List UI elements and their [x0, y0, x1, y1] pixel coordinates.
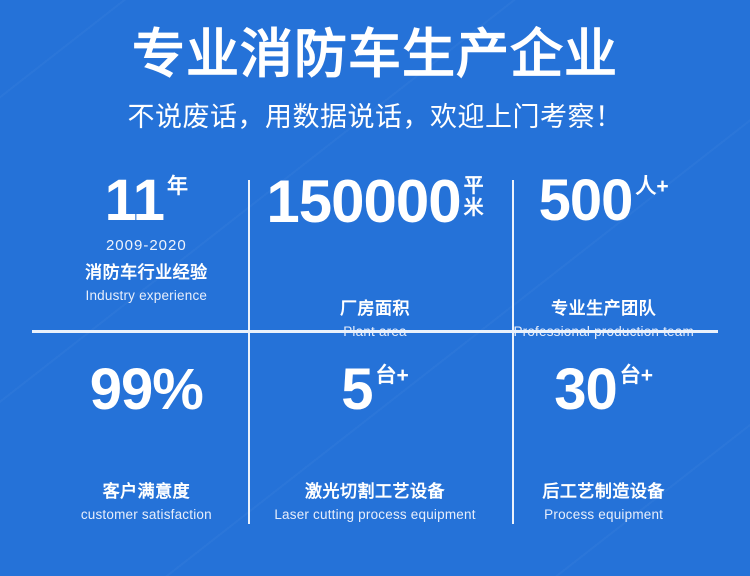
stat-value-row: 11 年 [105, 172, 188, 230]
stat-label-cn: 厂房面积 [340, 297, 410, 320]
stat-label-cn: 专业生产团队 [551, 297, 656, 320]
stat-card-production-team: 500 人+ 专业生产团队 Professional production te… [489, 158, 718, 341]
stat-value-row: 30 台+ [554, 361, 653, 419]
stats-grid: 11 年 2009-2020 消防车行业经验 Industry experien… [32, 158, 718, 524]
stat-card-industry-experience: 11 年 2009-2020 消防车行业经验 Industry experien… [32, 158, 261, 341]
grid-divider-horizontal [32, 330, 718, 333]
stat-card-customer-satisfaction: 99% 客户满意度 customer satisfaction [32, 341, 261, 524]
stat-unit: 台+ [620, 365, 653, 386]
stat-label-en: customer satisfaction [81, 505, 212, 524]
grid-divider-vertical-left [248, 180, 250, 524]
page-subtitle: 不说废话，用数据说话，欢迎上门考察！ [0, 100, 750, 134]
stat-sub-value: 2009-2020 [106, 236, 187, 256]
stat-value: 5 [341, 361, 372, 419]
stat-label-cn: 消防车行业经验 [85, 261, 208, 284]
stat-value: 99% [90, 361, 203, 419]
stat-unit-bottom: 米 [464, 197, 484, 219]
stat-label-en: Laser cutting process equipment [274, 505, 475, 524]
banner-header: 专业消防车生产企业 不说废话，用数据说话，欢迎上门考察！ [0, 0, 750, 134]
stat-value-row: 99% [90, 361, 203, 419]
stat-label-cn: 后工艺制造设备 [542, 480, 665, 503]
stat-value-row: 5 台+ [341, 361, 409, 419]
stat-card-plant-area: 150000 平 米 厂房面积 Plant area [261, 158, 490, 341]
stat-label-cn: 客户满意度 [103, 480, 191, 503]
stat-unit: 年 [167, 176, 188, 197]
stat-card-process-equipment: 30 台+ 后工艺制造设备 Process equipment [489, 341, 718, 524]
stat-unit: 人+ [635, 176, 668, 197]
grid-divider-vertical-right [512, 180, 514, 524]
stat-unit: 台+ [375, 365, 408, 386]
stat-value-row: 500 人+ [539, 172, 669, 230]
stat-card-laser-cutting-equipment: 5 台+ 激光切割工艺设备 Laser cutting process equi… [261, 341, 490, 524]
stat-value: 11 [105, 172, 164, 230]
stat-label-en: Industry experience [86, 286, 208, 305]
stat-value-row: 150000 平 米 [266, 172, 483, 232]
stat-value: 500 [539, 172, 633, 230]
stat-value: 30 [554, 361, 617, 419]
stat-unit: 平 米 [464, 175, 484, 219]
stat-label-en: Process equipment [544, 505, 663, 524]
stat-value: 150000 [266, 172, 460, 232]
promo-banner: 专业消防车生产企业 不说废话，用数据说话，欢迎上门考察！ 11 年 2009-2… [0, 0, 750, 576]
stat-unit-top: 平 [464, 175, 484, 197]
page-title: 专业消防车生产企业 [0, 24, 750, 86]
stat-label-cn: 激光切割工艺设备 [305, 480, 445, 503]
